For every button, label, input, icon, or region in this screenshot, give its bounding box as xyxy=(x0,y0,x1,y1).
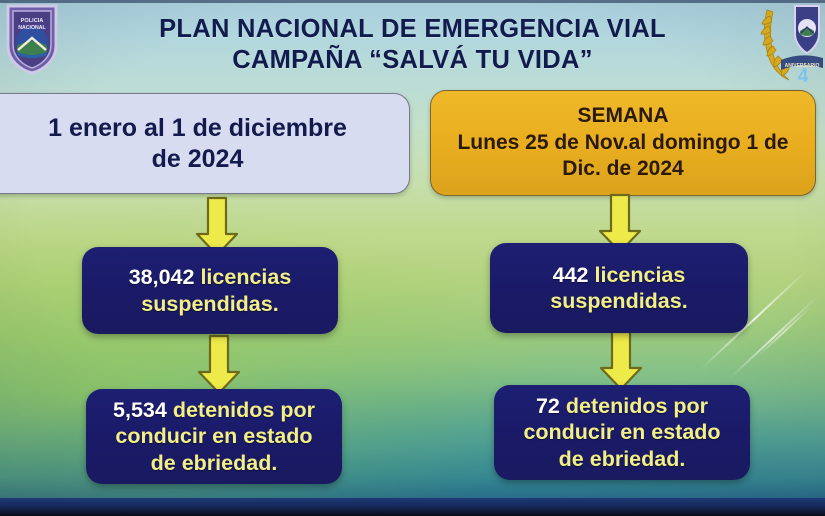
stat-week-licenses-line-1: 442 licencias xyxy=(550,262,687,288)
stat-week-detained-text: 72 detenidos por conducir en estado de e… xyxy=(523,393,720,472)
slide-canvas: POLICIA NACIONAL ANIVERSARIO 4 PLA xyxy=(0,0,825,516)
stat-box-week-licenses: 442 licencias suspendidas. xyxy=(490,243,748,333)
stat-annual-detained-text: 5,534 detenidos por conducir en estado d… xyxy=(113,397,315,476)
period-annual-line-2: de 2024 xyxy=(48,144,347,175)
screen-bezel-bottom xyxy=(0,498,825,516)
stat-week-licenses-number: 442 xyxy=(553,263,589,287)
stat-box-annual-detained: 5,534 detenidos por conducir en estado d… xyxy=(86,389,342,484)
stat-week-detained-line-1: 72 detenidos por xyxy=(523,393,720,419)
stat-week-licenses-label-2: suspendidas. xyxy=(550,288,687,314)
title-line-2: CAMPAÑA “SALVÁ TU VIDA” xyxy=(0,45,825,76)
arrow-down-icon xyxy=(598,330,644,392)
stat-week-detained-label-3: de ebriedad. xyxy=(523,446,720,472)
stat-annual-licenses-text: 38,042 licencias suspendidas. xyxy=(129,264,292,316)
period-week-line-3: Dic. de 2024 xyxy=(457,156,788,183)
period-week-line-1: SEMANA xyxy=(457,103,788,130)
screen-bezel-top xyxy=(0,0,825,3)
stat-annual-licenses-line-1: 38,042 licencias xyxy=(129,264,292,290)
page-title: PLAN NACIONAL DE EMERGENCIA VIAL CAMPAÑA… xyxy=(0,14,825,76)
period-box-annual: 1 enero al 1 de diciembre de 2024 xyxy=(0,93,410,194)
stat-annual-licenses-label-1: licencias xyxy=(200,265,291,289)
stat-box-week-detained: 72 detenidos por conducir en estado de e… xyxy=(494,385,750,480)
stat-annual-detained-label-2: conducir en estado xyxy=(113,423,315,449)
stat-week-licenses-text: 442 licencias suspendidas. xyxy=(550,262,687,314)
stat-annual-detained-number: 5,534 xyxy=(113,398,167,422)
stat-annual-detained-line-1: 5,534 detenidos por xyxy=(113,397,315,423)
period-annual-line-1: 1 enero al 1 de diciembre xyxy=(48,114,347,142)
title-line-1: PLAN NACIONAL DE EMERGENCIA VIAL xyxy=(0,14,825,45)
period-box-week: SEMANA Lunes 25 de Nov.al domingo 1 de D… xyxy=(430,90,816,196)
stat-annual-detained-label-1: detenidos por xyxy=(173,398,315,422)
stat-week-detained-label-1: detenidos por xyxy=(566,394,708,418)
arrow-down-icon xyxy=(196,334,242,396)
stat-week-detained-label-2: conducir en estado xyxy=(523,419,720,445)
stat-annual-licenses-label-2: suspendidas. xyxy=(129,291,292,317)
stat-annual-licenses-number: 38,042 xyxy=(129,265,195,289)
stat-week-licenses-label-1: licencias xyxy=(595,263,686,287)
period-annual-text: 1 enero al 1 de diciembre de 2024 xyxy=(48,113,347,175)
stat-annual-detained-label-3: de ebriedad. xyxy=(113,450,315,476)
period-week-line-2: Lunes 25 de Nov.al domingo 1 de xyxy=(457,130,788,157)
stat-week-detained-number: 72 xyxy=(536,394,560,418)
period-week-text: SEMANA Lunes 25 de Nov.al domingo 1 de D… xyxy=(457,103,788,184)
stat-box-annual-licenses: 38,042 licencias suspendidas. xyxy=(82,247,338,334)
